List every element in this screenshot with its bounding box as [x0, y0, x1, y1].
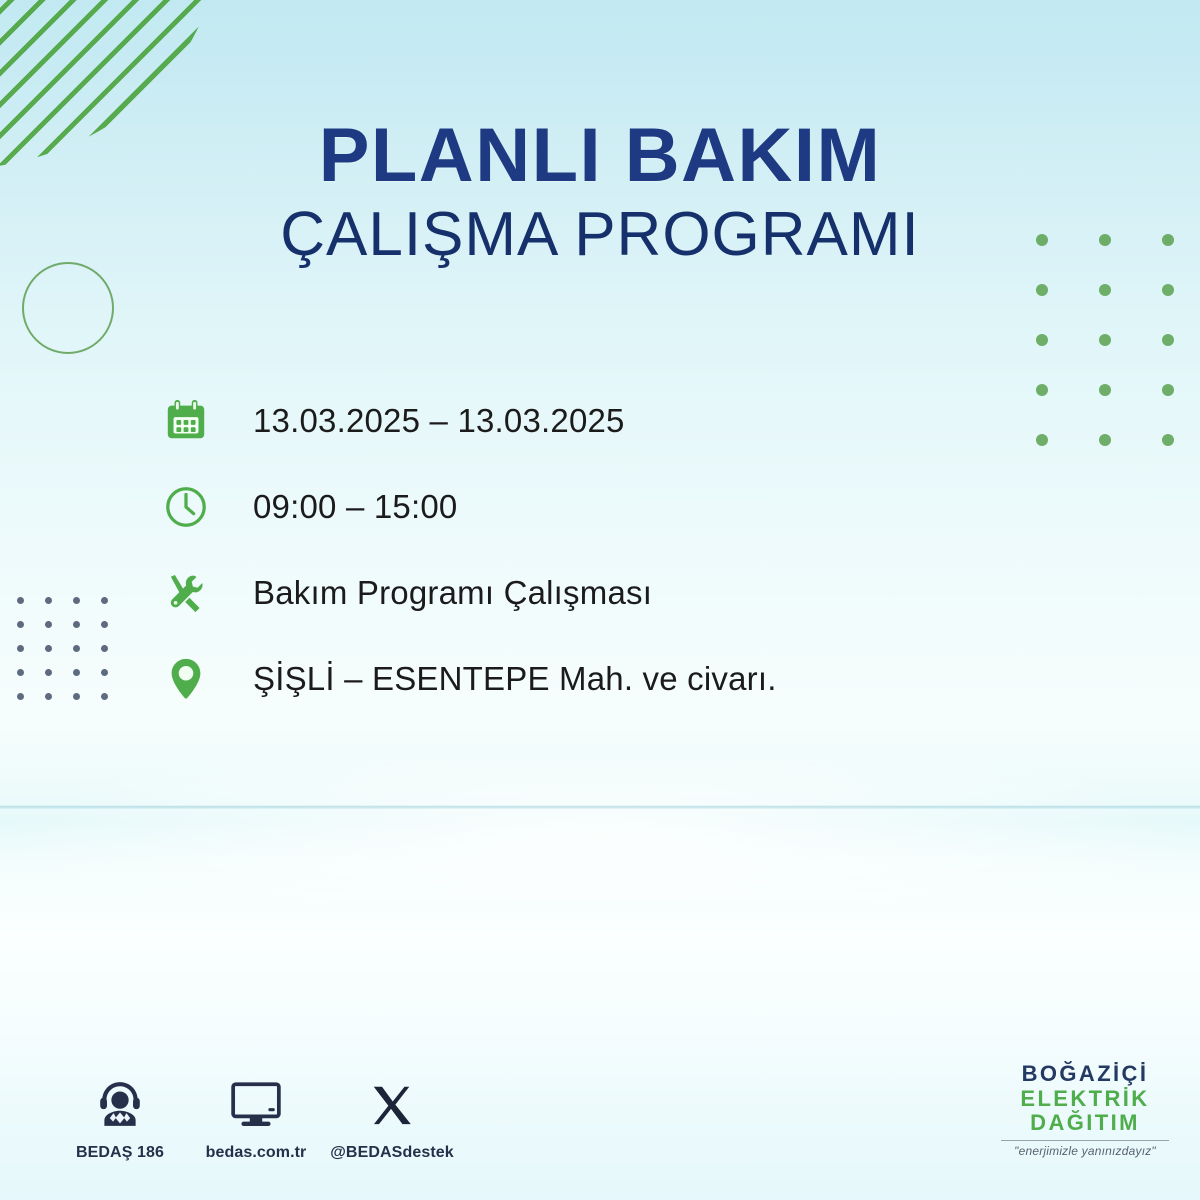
title-sub-line: ÇALIŞMA PROGRAMI: [0, 202, 1200, 267]
detail-date-text: 13.03.2025 – 13.03.2025: [253, 402, 625, 440]
title-main-line: PLANLI BAKIM: [0, 118, 1200, 194]
contact-item-x[interactable]: @BEDASdestek: [324, 1078, 460, 1162]
x-twitter-icon: [324, 1078, 460, 1132]
contact-item-website[interactable]: bedas.com.tr: [188, 1078, 324, 1162]
poster-canvas: PLANLI BAKIM ÇALIŞMA PROGRAMI: [0, 0, 1200, 1200]
horizon-glow-decoration: [0, 760, 1200, 900]
brand-divider: [1001, 1140, 1169, 1141]
circle-outline-decoration: [22, 262, 114, 354]
page-title: PLANLI BAKIM ÇALIŞMA PROGRAMI: [0, 118, 1200, 267]
detail-row-date: 13.03.2025 – 13.03.2025: [163, 378, 1043, 464]
contact-label-x: @BEDASdestek: [324, 1144, 460, 1162]
headset-support-icon: [52, 1078, 188, 1132]
detail-row-location: ŞİŞLİ – ESENTEPE Mah. ve civarı.: [163, 636, 1043, 722]
tools-icon: [163, 562, 225, 624]
contact-label-website: bedas.com.tr: [188, 1144, 324, 1162]
calendar-icon: [163, 390, 225, 452]
brand-line-dagitim: DAĞITIM: [992, 1111, 1178, 1136]
outage-details-list: 13.03.2025 – 13.03.2025 09:00 – 15:00: [163, 378, 1043, 722]
detail-row-work-type: Bakım Programı Çalışması: [163, 550, 1043, 636]
detail-work-type-text: Bakım Programı Çalışması: [253, 574, 652, 612]
horizon-band-decoration: [0, 805, 1200, 809]
clock-icon: [163, 476, 225, 538]
brand-tagline: "enerjimizle yanınızdayız": [992, 1144, 1178, 1158]
dot-grid-right-decoration: [1036, 234, 1200, 484]
contact-channels: BEDAŞ 186 bedas.com.tr @BEDASdestek: [52, 1078, 460, 1162]
contact-item-call-center[interactable]: BEDAŞ 186: [52, 1078, 188, 1162]
detail-location-text: ŞİŞLİ – ESENTEPE Mah. ve civarı.: [253, 660, 777, 698]
detail-row-time: 09:00 – 15:00: [163, 464, 1043, 550]
contact-label-call-center: BEDAŞ 186: [52, 1144, 188, 1162]
detail-time-text: 09:00 – 15:00: [253, 488, 457, 526]
brand-line-elektrik: ELEKTRİK: [992, 1087, 1178, 1112]
brand-logo: BOĞAZİÇİ ELEKTRİK DAĞITIM "enerjimizle y…: [992, 1062, 1178, 1158]
dot-grid-left-decoration: [17, 597, 129, 717]
brand-line-bogazici: BOĞAZİÇİ: [992, 1062, 1178, 1087]
location-pin-icon: [163, 648, 225, 710]
monitor-website-icon: [188, 1078, 324, 1132]
